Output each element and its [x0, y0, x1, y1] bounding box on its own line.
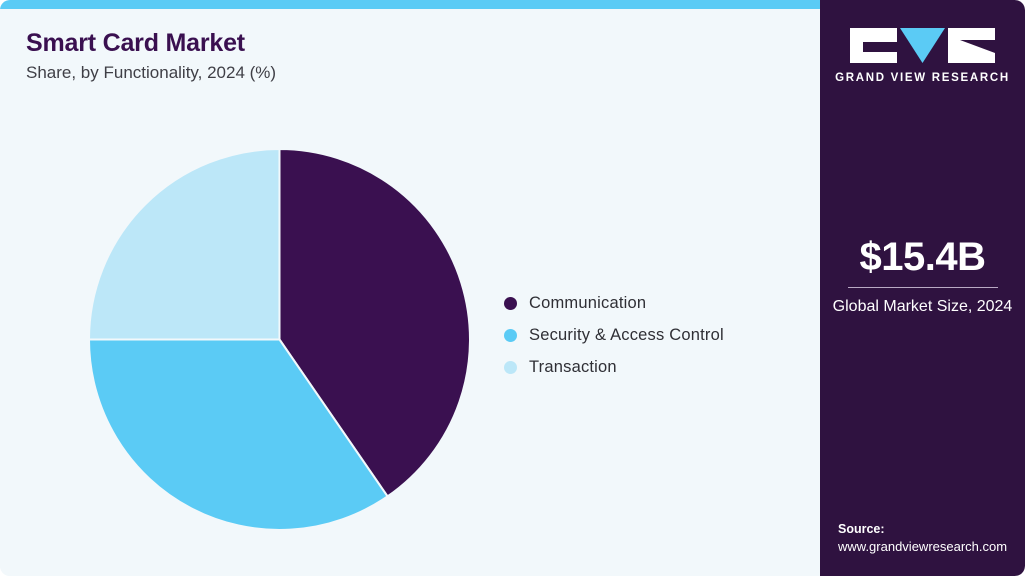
source-block: Source: www.grandviewresearch.com: [838, 521, 1015, 556]
legend-item-communication[interactable]: Communication: [504, 292, 724, 314]
pie-chart-svg: [89, 149, 470, 530]
logo-marks: [850, 28, 995, 63]
logo-v-svg: [900, 28, 945, 63]
pie-slice[interactable]: [89, 149, 280, 340]
legend-label-communication: Communication: [529, 294, 646, 313]
logo-r-icon: [948, 28, 995, 63]
logo-wordmark: GRAND VIEW RESEARCH: [835, 72, 1010, 84]
pie-slice-group: [89, 149, 470, 530]
chart-legend: Communication Security & Access Control …: [504, 292, 724, 378]
title-block: Smart Card Market Share, by Functionalit…: [26, 28, 276, 85]
stat-value: $15.4B: [832, 234, 1013, 280]
source-label: Source:: [838, 521, 1015, 538]
legend-item-transaction[interactable]: Transaction: [504, 356, 724, 378]
logo-g-icon: [850, 28, 897, 63]
pie-chart: [89, 149, 470, 530]
legend-label-security-access-control: Security & Access Control: [529, 326, 724, 345]
market-size-stat: $15.4B Global Market Size, 2024: [820, 234, 1025, 318]
legend-item-security-access-control[interactable]: Security & Access Control: [504, 324, 724, 346]
legend-swatch-communication: [504, 297, 517, 310]
legend-swatch-transaction: [504, 361, 517, 374]
logo-v-triangle-icon: [900, 28, 945, 63]
stat-divider: [848, 287, 998, 288]
chart-panel: Smart Card Market Share, by Functionalit…: [0, 9, 820, 576]
infographic-card: Smart Card Market Share, by Functionalit…: [0, 0, 1025, 576]
brand-sidebar: GRAND VIEW RESEARCH $15.4B Global Market…: [820, 0, 1025, 576]
page-subtitle: Share, by Functionality, 2024 (%): [26, 61, 276, 85]
legend-label-transaction: Transaction: [529, 358, 617, 377]
source-url[interactable]: www.grandviewresearch.com: [838, 538, 1015, 556]
stat-caption: Global Market Size, 2024: [832, 296, 1013, 318]
brand-logo: GRAND VIEW RESEARCH: [820, 28, 1025, 84]
page-title: Smart Card Market: [26, 28, 276, 58]
top-accent-bar: [0, 0, 820, 9]
legend-swatch-security-access-control: [504, 329, 517, 342]
